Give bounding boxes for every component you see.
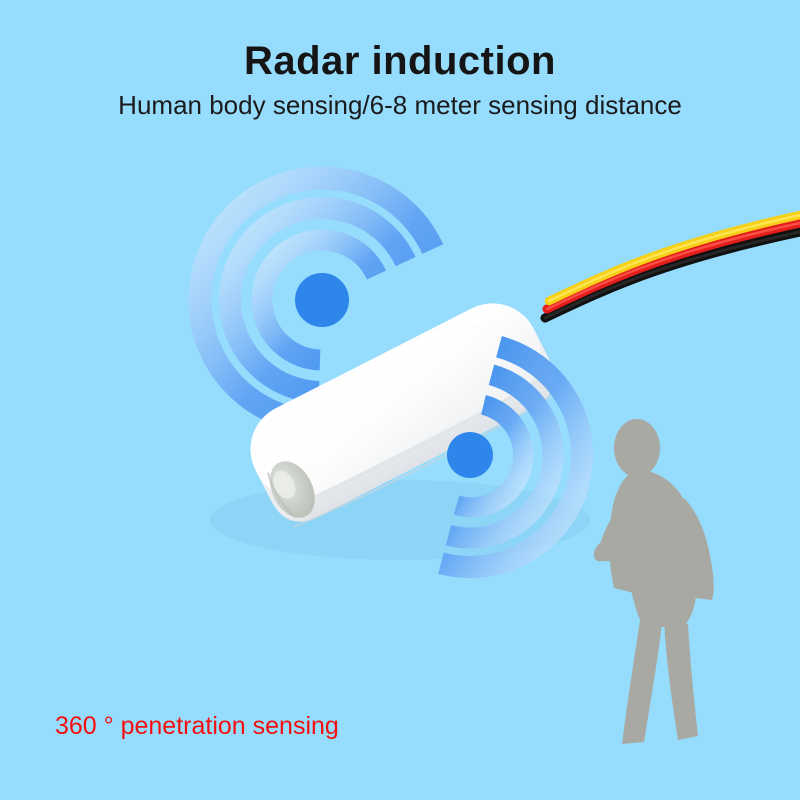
page-title: Radar induction bbox=[0, 38, 800, 84]
page-subtitle: Human body sensing/6-8 meter sensing dis… bbox=[0, 89, 800, 121]
radar-dot-upper-left bbox=[295, 273, 349, 327]
person-head bbox=[614, 419, 660, 477]
black-wire bbox=[545, 232, 800, 318]
radar-dot-lower-right bbox=[447, 432, 493, 478]
person-leg-right bbox=[664, 620, 698, 740]
walking-person-silhouette bbox=[594, 419, 714, 744]
person-leg-left bbox=[622, 620, 662, 744]
wire-bundle bbox=[545, 215, 800, 318]
product-promo-image: Radar induction Human body sensing/6-8 m… bbox=[0, 0, 800, 800]
person-torso bbox=[626, 470, 697, 628]
penetration-sensing-note: 360 ° penetration sensing bbox=[55, 711, 339, 741]
